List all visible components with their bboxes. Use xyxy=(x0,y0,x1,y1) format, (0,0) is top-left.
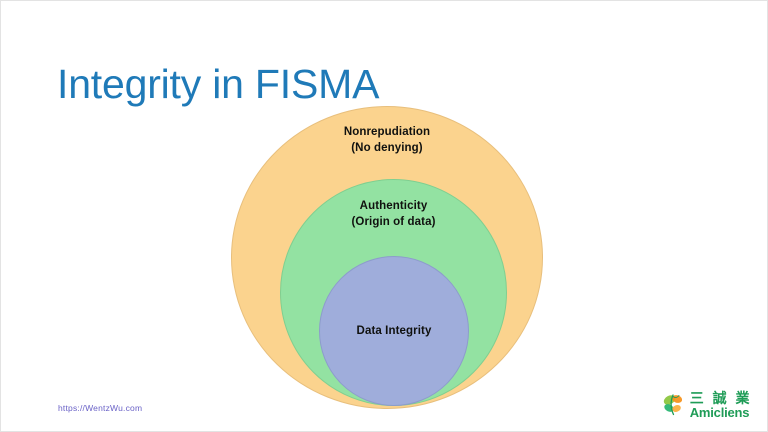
venn-label-authenticity: Authenticity (Origin of data) xyxy=(281,199,506,230)
logo-wordmark: 三 誠 業 Amicliens xyxy=(690,391,752,419)
venn-diagram: Nonrepudiation (No denying) Authenticity… xyxy=(1,1,768,432)
venn-label-nonrepudiation: Nonrepudiation (No denying) xyxy=(232,125,542,156)
venn-label-nonrepudiation-line2: (No denying) xyxy=(232,141,542,157)
butterfly-icon xyxy=(661,392,687,418)
slide-canvas: Integrity in FISMA Nonrepudiation (No de… xyxy=(0,0,768,432)
footer-url-link[interactable]: https://WentzWu.com xyxy=(58,403,142,413)
venn-label-authenticity-line2: (Origin of data) xyxy=(281,215,506,231)
logo-chinese-name: 三 誠 業 xyxy=(690,391,752,405)
venn-label-data-integrity: Data Integrity xyxy=(320,324,468,340)
venn-circle-data-integrity: Data Integrity xyxy=(319,256,469,406)
venn-label-nonrepudiation-line1: Nonrepudiation xyxy=(232,125,542,141)
brand-logo: 三 誠 業 Amicliens xyxy=(661,391,752,419)
logo-english-name: Amicliens xyxy=(690,406,750,419)
venn-label-data-integrity-line1: Data Integrity xyxy=(320,324,468,340)
venn-label-authenticity-line1: Authenticity xyxy=(281,199,506,215)
